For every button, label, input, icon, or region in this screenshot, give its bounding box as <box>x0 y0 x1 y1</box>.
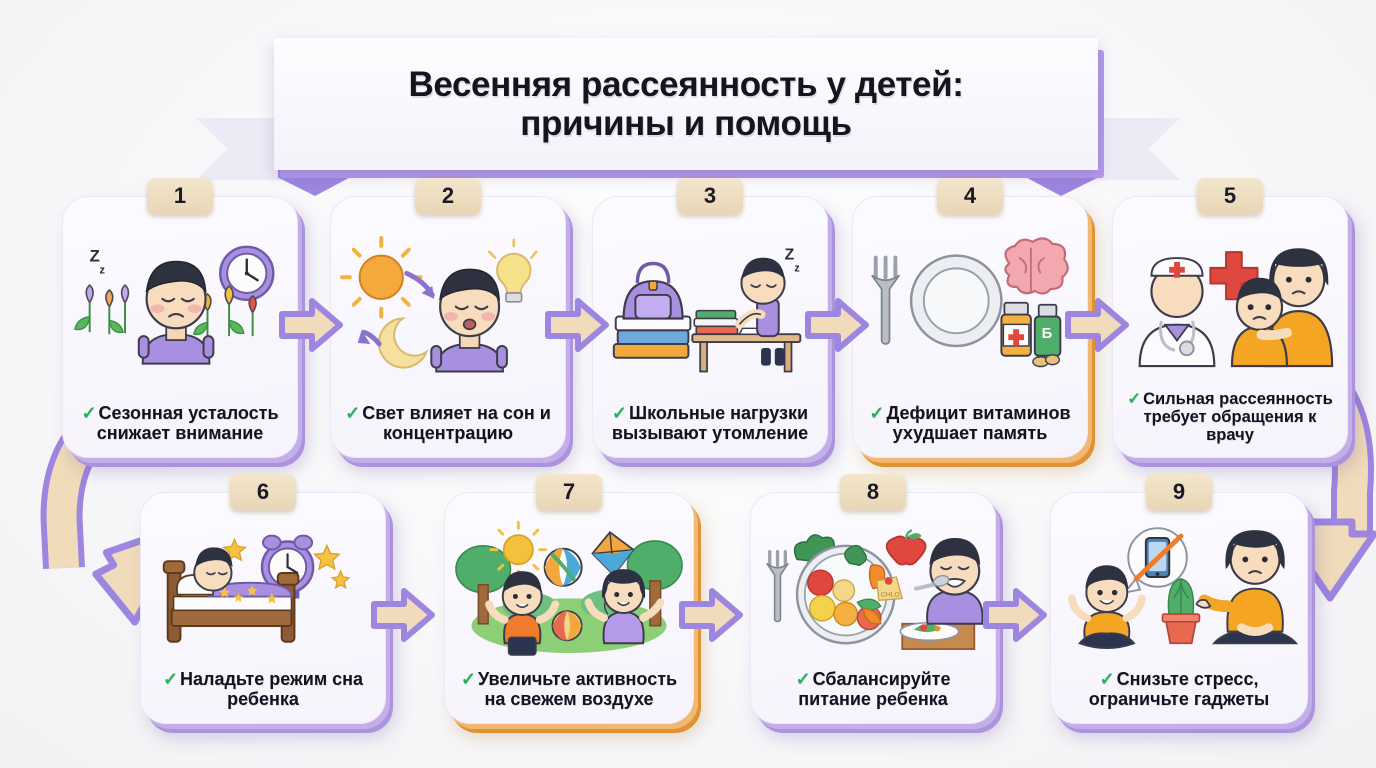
books-small-icon <box>694 311 737 335</box>
vitamin-bottles-icon: Б <box>1001 303 1060 367</box>
card-8-caption-text: Сбалансируйте питание ребенка <box>798 669 950 709</box>
ball-small-icon <box>552 611 581 640</box>
arrow-8-to-9 <box>984 586 1046 644</box>
infographic-canvas: Весенняя рассеянность у детей: причины и… <box>0 0 1376 768</box>
zzz-icon: Z <box>90 247 100 266</box>
card-1-caption: ✓Сезонная усталость снижает внимание <box>72 402 288 448</box>
card-9-caption-text: Снизьте стресс, ограничьте гаджеты <box>1089 669 1270 709</box>
card-9-illustration <box>1060 507 1298 668</box>
svg-text:CHLO: CHLO <box>881 591 900 598</box>
card-6-illustration <box>150 507 376 668</box>
title-banner: Весенняя рассеянность у детей: причины и… <box>196 22 1180 174</box>
zzz-icon: Z <box>785 247 795 264</box>
arrow-4-to-5 <box>1066 296 1128 354</box>
card-5-number: 5 <box>1197 178 1263 214</box>
sleepy-boy-icon <box>139 262 214 364</box>
card-4-number: 4 <box>937 178 1003 214</box>
card-5[interactable]: 5 <box>1112 196 1348 458</box>
doctor-icon <box>1140 258 1215 366</box>
card-4-caption-text: Дефицит витаминов ухудшает память <box>887 403 1071 443</box>
card-8[interactable]: 8 <box>750 492 996 724</box>
check-icon: ✓ <box>163 669 178 689</box>
check-icon: ✓ <box>1127 390 1141 408</box>
potted-plant-icon <box>1162 579 1199 643</box>
card-2-caption-text: Свет влияет на сон и концентрацию <box>362 403 551 443</box>
card-2-illustration <box>340 211 556 402</box>
apple-icon <box>887 530 926 564</box>
meditating-mother-icon <box>1197 530 1296 643</box>
card-1-caption-text: Сезонная усталость снижает внимание <box>97 403 279 443</box>
card-4-caption: ✓Дефицит витаминов ухудшает память <box>862 402 1078 448</box>
check-icon: ✓ <box>81 403 96 423</box>
tulips-icon <box>75 285 129 334</box>
yawning-boy-icon <box>431 269 507 371</box>
fork-icon <box>767 552 788 622</box>
arrow-7-to-8 <box>680 586 742 644</box>
card-8-illustration: CHLO <box>760 507 986 668</box>
card-3-illustration: Z z <box>602 211 818 402</box>
arrow-3-to-4 <box>806 296 868 354</box>
svg-text:z: z <box>99 264 105 276</box>
mother-and-child-icon <box>1232 248 1332 366</box>
card-6-number: 6 <box>230 474 296 510</box>
check-icon: ✓ <box>461 669 476 689</box>
card-3-caption-text: Школьные нагрузки вызывают утомление <box>612 403 808 443</box>
card-1-number: 1 <box>147 178 213 214</box>
arrow-1-to-2 <box>280 296 342 354</box>
card-3-number: 3 <box>677 178 743 214</box>
card-5-caption-text: Сильная рассеянность требует обращения к… <box>1143 390 1333 444</box>
arrow-2-to-3 <box>546 296 608 354</box>
card-4-illustration: Б <box>862 211 1078 402</box>
check-icon: ✓ <box>1100 669 1115 689</box>
healthy-plate-icon: CHLO <box>797 546 902 644</box>
backpack-icon <box>624 264 683 319</box>
card-6-caption-text: Наладьте режим сна ребенка <box>180 669 363 709</box>
card-7-caption: ✓Увеличьте активность на свежем воздухе <box>454 668 684 714</box>
page-title-line-2: причины и помощь <box>409 104 964 143</box>
card-2[interactable]: 2 <box>330 196 566 458</box>
svg-text:Б: Б <box>1042 326 1053 342</box>
card-2-caption: ✓Свет влияет на сон и концентрацию <box>340 402 556 448</box>
card-8-number: 8 <box>840 474 906 510</box>
card-5-caption: ✓Сильная рассеянность требует обращения … <box>1122 388 1338 448</box>
card-3[interactable]: 3 <box>592 196 828 458</box>
ball-icon <box>545 548 582 586</box>
card-8-caption: ✓Сбалансируйте питание ребенка <box>760 668 986 714</box>
happy-child-icon <box>1072 565 1142 648</box>
card-1[interactable]: 1 Z z <box>62 196 298 458</box>
card-6[interactable]: 6 <box>140 492 386 724</box>
svg-text:z: z <box>794 262 800 274</box>
card-3-caption: ✓Школьные нагрузки вызывают утомление <box>602 402 818 448</box>
check-icon: ✓ <box>795 669 810 689</box>
card-9-caption: ✓Снизьте стресс, ограничьте гаджеты <box>1060 668 1298 714</box>
books-stack-icon <box>614 317 691 358</box>
card-6-caption: ✓Наладьте режим сна ребенка <box>150 668 376 714</box>
card-9-number: 9 <box>1146 474 1212 510</box>
fork-icon <box>872 258 899 344</box>
card-1-illustration: Z z <box>72 211 288 402</box>
check-icon: ✓ <box>612 403 627 423</box>
card-7-caption-text: Увеличьте активность на свежем воздухе <box>478 669 677 709</box>
moon-icon <box>379 318 426 367</box>
card-5-illustration <box>1122 211 1338 388</box>
brain-icon <box>1005 238 1067 293</box>
card-7-number: 7 <box>536 474 602 510</box>
sun-icon <box>342 238 421 317</box>
arrow-6-to-7 <box>372 586 434 644</box>
card-4[interactable]: 4 <box>852 196 1088 458</box>
page-title-line-1: Весенняя рассеянность у детей: <box>409 65 964 104</box>
banner-plate: Весенняя рассеянность у детей: причины и… <box>274 38 1098 170</box>
card-7-illustration <box>454 507 684 668</box>
page-title: Весенняя рассеянность у детей: причины и… <box>409 65 964 143</box>
card-7[interactable]: 7 <box>444 492 694 724</box>
empty-plate-icon <box>911 256 1001 346</box>
check-icon: ✓ <box>345 403 360 423</box>
check-icon: ✓ <box>869 403 884 423</box>
card-9[interactable]: 9 <box>1050 492 1308 724</box>
card-2-number: 2 <box>415 178 481 214</box>
